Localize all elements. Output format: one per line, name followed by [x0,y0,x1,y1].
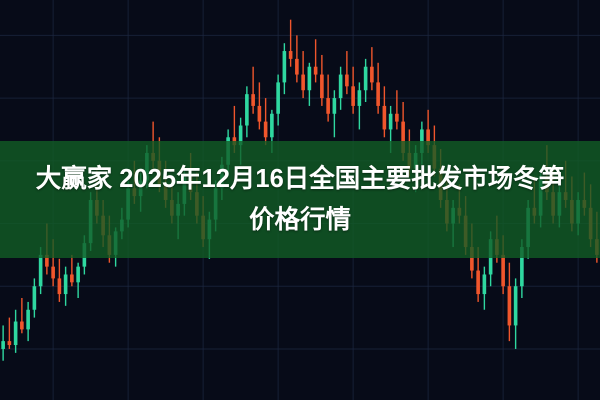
candle-body [264,122,268,138]
candle-body [258,106,262,122]
candle-body [295,59,299,75]
candle-body [501,255,505,286]
candle-body [20,322,24,330]
candle-body [8,341,12,345]
screenshot-root: 大赢家 2025年12月16日全国主要批发市场冬笋 价格行情 [0,0,600,400]
candle-body [283,51,287,82]
candle-body [383,106,387,130]
candle-body [314,67,318,75]
candle-body [1,341,5,349]
candle-body [333,98,337,114]
candle-body [276,82,280,113]
candle-body [364,67,368,91]
candle-body [251,94,255,106]
candle-body [395,114,399,122]
candle-body [345,75,349,87]
candle-body [483,274,487,294]
candle-body [64,274,68,294]
candle-body [308,67,312,91]
candle-body [76,267,80,283]
candle-body [39,255,43,286]
candle-body [58,278,62,294]
candle-body [245,94,249,125]
candle-body [270,114,274,138]
title-banner-overlay: 大赢家 2025年12月16日全国主要批发市场冬笋 价格行情 [0,141,600,258]
candle-body [320,75,324,99]
candle-body [351,86,355,106]
candle-body [289,51,293,59]
candle-body [370,67,374,83]
candle-body [358,90,362,106]
candle-body [14,322,18,346]
candle-body [508,286,512,325]
candle-body [301,75,305,91]
page-title-line-1: 大赢家 2025年12月16日全国主要批发市场冬笋 [8,159,592,200]
candle-body [476,271,480,295]
page-title-line-2: 价格行情 [8,200,592,241]
candle-body [376,82,380,106]
candle-body [51,267,55,279]
candle-body [339,75,343,99]
candle-body [26,310,30,330]
candle-body [326,98,330,114]
candle-body [389,114,393,130]
page-title: 大赢家 2025年12月16日全国主要批发市场冬笋 价格行情 [0,159,600,241]
candle-body [70,274,74,282]
candle-body [33,286,37,310]
candle-body [514,286,518,325]
